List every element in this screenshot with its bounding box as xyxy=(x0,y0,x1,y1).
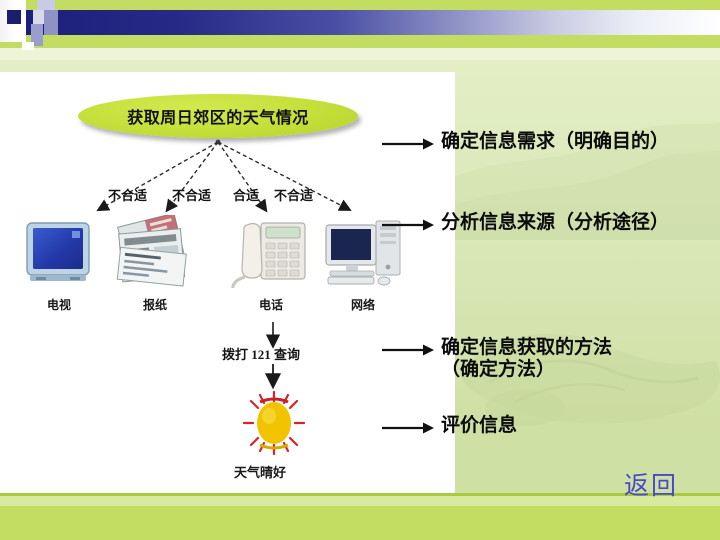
header-top-strip xyxy=(0,0,720,10)
step-1: 确定信息需求（明确目的） xyxy=(382,131,669,153)
branch-label-3: 合适 xyxy=(233,185,259,204)
branch-label-2: 不合适 xyxy=(172,185,211,204)
device-caption-newspaper: 报纸 xyxy=(113,296,197,313)
device-television: 电视 xyxy=(22,220,96,313)
decoration-white-notch xyxy=(22,42,34,50)
step-4: 评价信息 xyxy=(382,415,517,437)
right-arrow-icon xyxy=(382,218,434,232)
step-2: 分析信息来源（分析途径） xyxy=(382,212,669,234)
device-caption-network: 网络 xyxy=(320,296,406,313)
device-telephone: 电话 xyxy=(225,215,317,313)
television-icon xyxy=(22,220,96,288)
newspaper-icon xyxy=(113,215,197,288)
step-1-label: 确定信息需求（明确目的） xyxy=(441,131,669,153)
right-arrow-icon xyxy=(382,343,434,357)
branch-label-4: 不合适 xyxy=(274,185,313,204)
right-arrow-icon xyxy=(382,137,434,151)
goal-ellipse: 获取周日郊区的天气情况 xyxy=(78,94,358,138)
telephone-icon xyxy=(225,215,317,288)
sun-icon xyxy=(238,390,310,456)
header-gradient-bar xyxy=(24,10,720,35)
slide-canvas: 获取周日郊区的天气情况 不合适 不合适 合适 不合适 xyxy=(0,0,720,540)
decoration-square-navy xyxy=(7,10,21,24)
step-3: 确定信息获取的方法 （确定方法） xyxy=(382,337,612,382)
result-caption-weather: 天气晴好 xyxy=(234,462,286,481)
device-caption-telephone: 电话 xyxy=(225,296,317,313)
branch-label-1: 不合适 xyxy=(108,185,147,204)
step-4-label: 评价信息 xyxy=(441,415,517,437)
device-newspaper: 报纸 xyxy=(113,215,197,313)
background-watermark-hands xyxy=(430,120,720,450)
decoration-square-lavender-right xyxy=(44,10,58,35)
goal-ellipse-label: 获取周日郊区的天气情况 xyxy=(127,104,309,128)
step-3-label: 确定信息获取的方法 （确定方法） xyxy=(441,337,612,382)
step-2-label: 分析信息来源（分析途径） xyxy=(441,212,669,234)
action-label-dial: 拨打 121 查询 xyxy=(222,344,300,363)
back-link[interactable]: 返回 xyxy=(624,466,678,502)
right-arrow-icon xyxy=(382,421,434,435)
device-caption-television: 电视 xyxy=(22,296,96,313)
